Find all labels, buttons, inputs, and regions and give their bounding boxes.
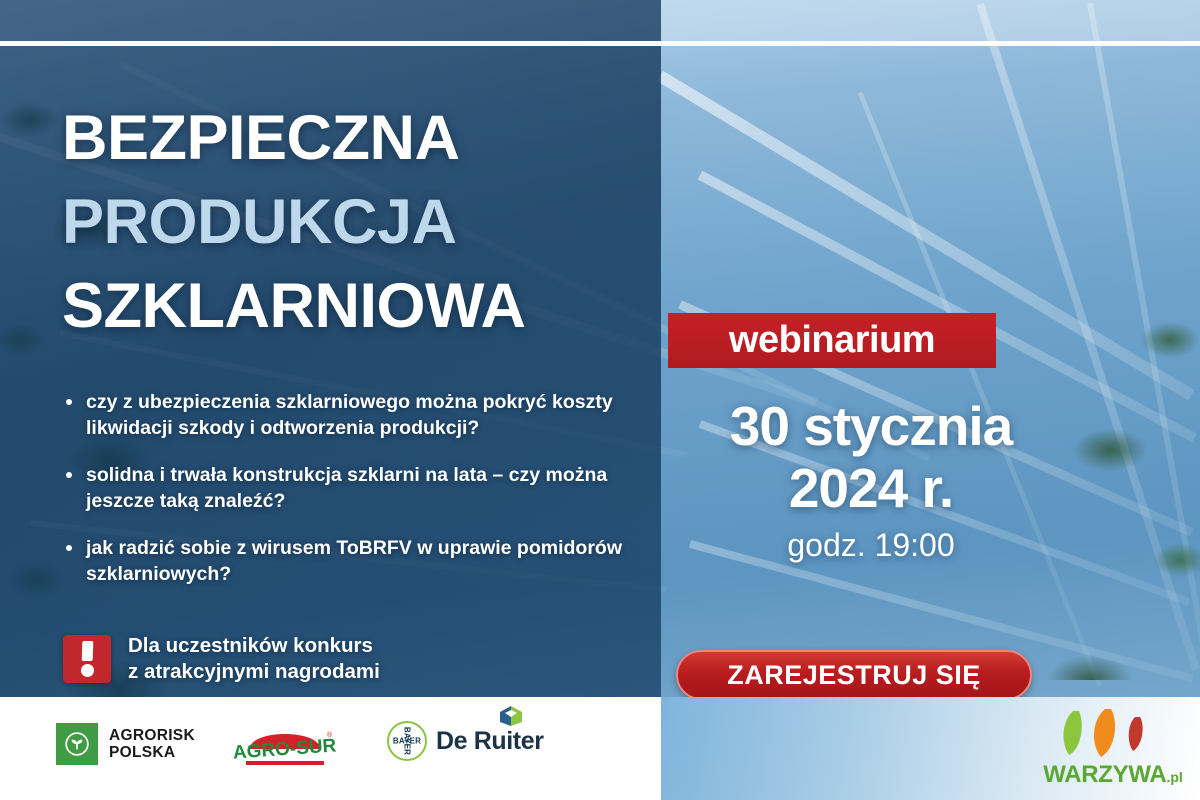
sponsor-logo-bayer-deruiter[interactable]: BAYER BAYER De Ruiter [387,721,544,761]
webinar-ribbon: webinarium [668,313,996,368]
sponsor-agrosur-label: AGRO-SUR [232,735,337,763]
top-divider-rule [0,41,1200,46]
contest-notice: Dla uczestników konkurs z atrakcyjnymi n… [63,633,380,685]
three-leaves-icon [1043,705,1183,761]
brand-name: WARZYWA [1043,761,1166,788]
brand-suffix: .pl [1166,769,1182,785]
list-item: czy z ubezpieczenia szklarniowego można … [62,390,652,441]
bullet-dot-icon [66,545,72,551]
webinar-ribbon-label: webinarium [729,319,935,362]
event-date-line-2: 2024 r. [661,457,1081,519]
deruiter-cube-icon [498,705,524,727]
contest-notice-text: Dla uczestników konkurs z atrakcyjnymi n… [128,633,380,685]
list-item: solidna i trwała konstrukcja szklarni na… [62,463,652,514]
event-date-block: 30 stycznia 2024 r. godz. 19:00 [661,395,1081,567]
list-item-text: czy z ubezpieczenia szklarniowego można … [86,391,613,439]
sponsor-logo-row: AGRORISK POLSKA AGRO-SUR ® BAYER BAYER [0,697,661,800]
list-item-text: jak radzić sobie z wirusem ToBRFV w upra… [86,537,622,585]
sponsor-logo-agrorisk[interactable]: AGRORISK POLSKA [56,723,195,765]
brand-logo-warzywa[interactable]: WARZYWA.pl [1043,705,1183,793]
page-title: BEZPIECZNA PRODUKCJA SZKLARNIOWA [62,96,662,348]
headline-line-2: PRODUKCJA [62,180,662,264]
webinar-promo-banner: BEZPIECZNA PRODUKCJA SZKLARNIOWA czy z u… [0,0,1200,800]
bayer-vertical-text: BAYER [403,727,412,755]
topic-list: czy z ubezpieczenia szklarniowego można … [62,390,652,609]
register-button-label: ZAREJESTRUJ SIĘ [727,660,981,691]
list-item-text: solidna i trwała konstrukcja szklarni na… [86,464,607,512]
sponsor-logo-agrosur[interactable]: AGRO-SUR ® [232,715,338,777]
bullet-dot-icon [66,472,72,478]
list-item: jak radzić sobie z wirusem ToBRFV w upra… [62,536,652,587]
svg-text:®: ® [327,731,333,739]
headline-line-1: BEZPIECZNA [62,96,662,180]
event-time: godz. 19:00 [661,523,1081,567]
bullet-dot-icon [66,399,72,405]
event-date-line-1: 30 stycznia [661,395,1081,457]
bayer-cross-icon: BAYER BAYER [387,721,427,761]
contest-line-1: Dla uczestników konkurs [128,633,380,659]
headline-line-3: SZKLARNIOWA [62,264,662,348]
sponsor-agrorisk-line-2: POLSKA [109,744,195,761]
contest-line-2: z atrakcyjnymi nagrodami [128,659,380,685]
sponsor-agrorisk-line-1: AGRORISK [109,727,195,744]
exclamation-icon [63,635,111,683]
leaf-in-circle-icon [56,723,98,765]
sponsor-deruiter-label: De Ruiter [436,727,544,755]
